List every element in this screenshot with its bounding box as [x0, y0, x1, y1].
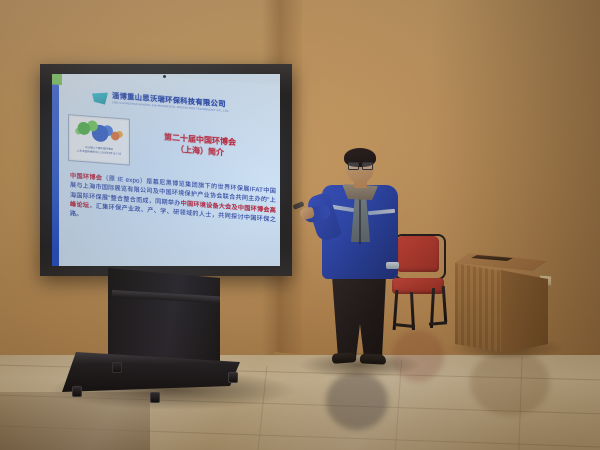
conference-room-photo: 淄博重山思沃瑞环保科技有限公司 ZIBO CHONGSHAN SIWORUI E…	[0, 0, 600, 450]
chair-leg	[442, 286, 448, 322]
presenter-shoe-right	[360, 353, 386, 364]
glasses-icon	[348, 162, 372, 168]
presenter-jacket-zipper	[359, 198, 361, 244]
cart-caster	[72, 386, 82, 397]
cart-caster	[228, 372, 238, 383]
presenter	[306, 150, 410, 372]
presenter-cuff-right	[386, 262, 399, 269]
bezel-camera-icon	[163, 75, 166, 78]
presenter-shoe-left	[332, 352, 357, 364]
cart-caster	[112, 362, 122, 373]
floor-reflection-person	[326, 372, 388, 430]
podium-front-panel	[455, 262, 501, 352]
podium-side-panel	[500, 270, 548, 354]
presenter-trousers	[330, 276, 388, 358]
display-bezel-highlight	[40, 64, 292, 276]
chair-rail	[429, 321, 447, 326]
cart-caster	[150, 392, 160, 403]
wooden-podium[interactable]	[455, 253, 551, 353]
